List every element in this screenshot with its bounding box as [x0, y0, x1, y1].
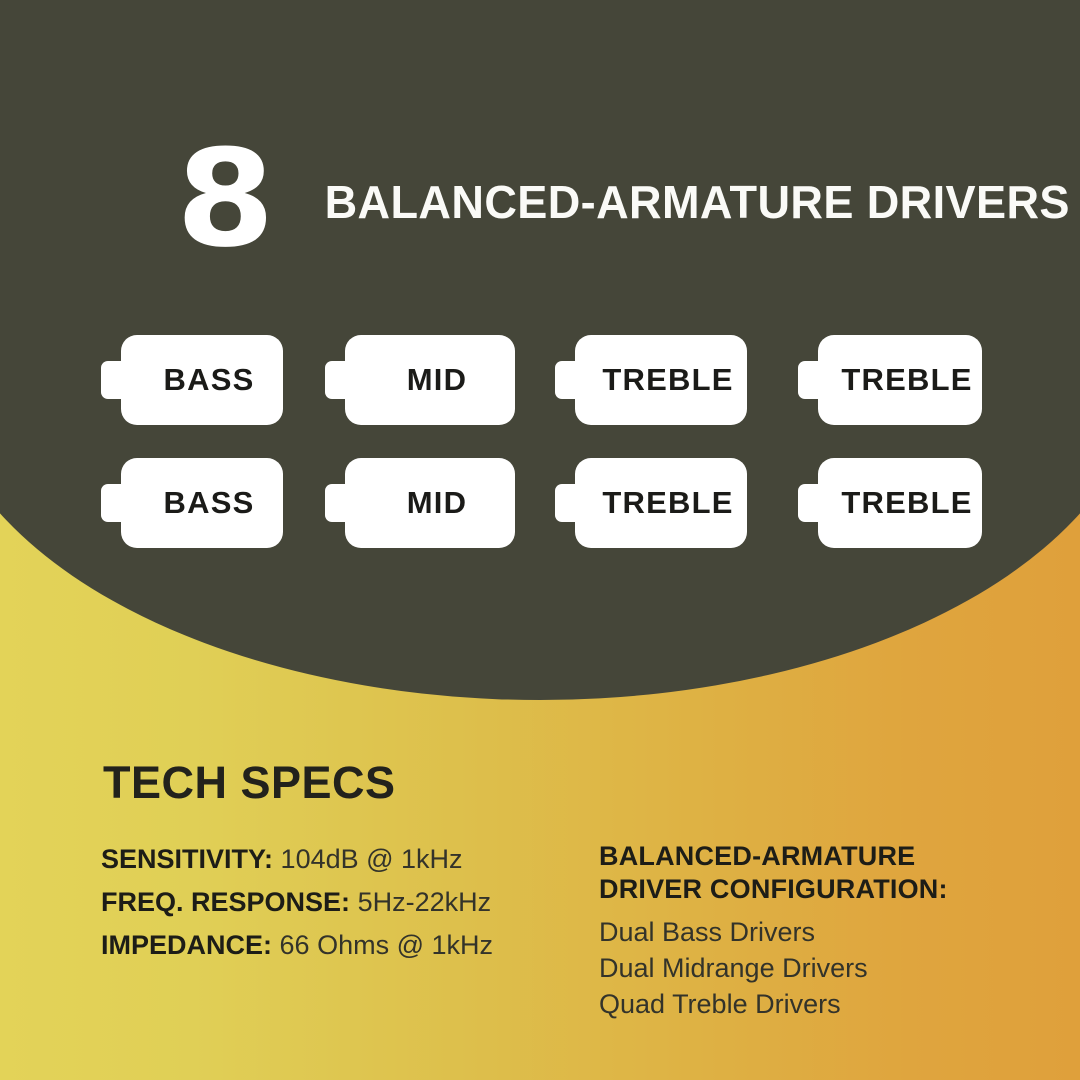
- configuration-title-line-2: DRIVER CONFIGURATION:: [599, 873, 1029, 906]
- driver-chip-treble: TREBLE: [575, 335, 747, 425]
- driver-chip-row: BASS MID TREBLE TREBLE: [0, 458, 1080, 548]
- driver-chip-label: MID: [393, 485, 467, 521]
- spec-label: FREQ. RESPONSE:: [101, 887, 350, 917]
- battery-terminal-icon: [101, 361, 127, 399]
- spec-row-impedance: IMPEDANCE: 66 Ohms @ 1kHz: [101, 924, 571, 967]
- configuration-list: Dual Bass Drivers Dual Midrange Drivers …: [599, 914, 1029, 1022]
- infographic-root: 8 BALANCED-ARMATURE DRIVERS BASS MID TRE…: [0, 0, 1080, 1080]
- spec-row-freq-response: FREQ. RESPONSE: 5Hz-22kHz: [101, 881, 571, 924]
- driver-chip-mid: MID: [345, 458, 515, 548]
- driver-chip-label: TREBLE: [588, 362, 733, 398]
- tech-specs-heading: TECH SPECS: [103, 757, 396, 809]
- driver-chip-label: MID: [393, 362, 467, 398]
- configuration-item: Dual Bass Drivers: [599, 914, 1029, 950]
- header-title: BALANCED-ARMATURE DRIVERS: [325, 175, 1070, 229]
- spec-value: 104dB @ 1kHz: [281, 844, 463, 874]
- battery-terminal-icon: [325, 361, 351, 399]
- driver-chip-label: BASS: [150, 362, 255, 398]
- configuration-title-line-1: BALANCED-ARMATURE: [599, 840, 1029, 873]
- battery-terminal-icon: [325, 484, 351, 522]
- battery-terminal-icon: [555, 484, 581, 522]
- driver-chip-treble: TREBLE: [818, 458, 982, 548]
- battery-terminal-icon: [798, 361, 824, 399]
- spec-label: IMPEDANCE:: [101, 930, 272, 960]
- spec-row-sensitivity: SENSITIVITY: 104dB @ 1kHz: [101, 838, 571, 881]
- driver-chip-bass: BASS: [121, 335, 283, 425]
- driver-chip-label: TREBLE: [827, 485, 972, 521]
- driver-chip-label: TREBLE: [588, 485, 733, 521]
- configuration-item: Dual Midrange Drivers: [599, 950, 1029, 986]
- driver-count-number: 8: [176, 132, 273, 266]
- header: 8 BALANCED-ARMATURE DRIVERS: [0, 142, 1080, 262]
- driver-chip-grid: BASS MID TREBLE TREBLE BASS MID: [0, 335, 1080, 581]
- driver-chip-treble: TREBLE: [818, 335, 982, 425]
- battery-terminal-icon: [798, 484, 824, 522]
- configuration-title: BALANCED-ARMATURE DRIVER CONFIGURATION:: [599, 840, 1029, 906]
- driver-chip-bass: BASS: [121, 458, 283, 548]
- spec-value: 66 Ohms @ 1kHz: [280, 930, 493, 960]
- configuration-item: Quad Treble Drivers: [599, 986, 1029, 1022]
- driver-chip-label: BASS: [150, 485, 255, 521]
- spec-label: SENSITIVITY:: [101, 844, 273, 874]
- tech-specs-list: SENSITIVITY: 104dB @ 1kHz FREQ. RESPONSE…: [101, 838, 571, 967]
- driver-chip-mid: MID: [345, 335, 515, 425]
- battery-terminal-icon: [101, 484, 127, 522]
- driver-configuration-block: BALANCED-ARMATURE DRIVER CONFIGURATION: …: [599, 840, 1029, 1022]
- driver-chip-treble: TREBLE: [575, 458, 747, 548]
- driver-chip-label: TREBLE: [827, 362, 972, 398]
- driver-chip-row: BASS MID TREBLE TREBLE: [0, 335, 1080, 425]
- spec-value: 5Hz-22kHz: [358, 887, 492, 917]
- battery-terminal-icon: [555, 361, 581, 399]
